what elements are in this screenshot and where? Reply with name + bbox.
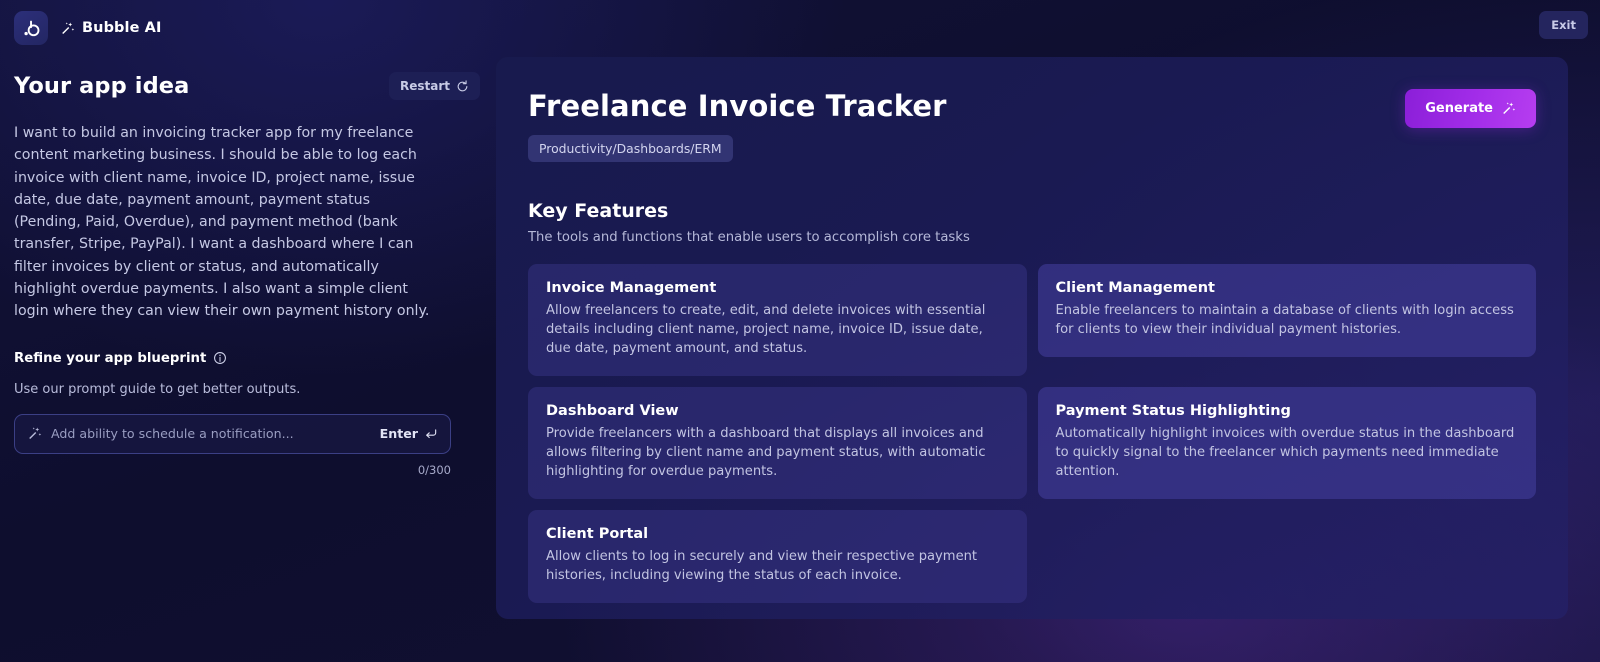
sparkle-icon bbox=[1501, 101, 1516, 116]
feature-grid: Invoice Management Allow freelancers to … bbox=[528, 264, 1536, 603]
enter-return-icon bbox=[424, 427, 438, 441]
feature-description: Automatically highlight invoices with ov… bbox=[1056, 425, 1519, 482]
top-bar: Bubble AI Exit bbox=[0, 0, 1600, 56]
feature-card[interactable]: Dashboard View Provide freelancers with … bbox=[528, 387, 1027, 499]
blueprint-panel: Freelance Invoice Tracker Productivity/D… bbox=[496, 57, 1568, 619]
category-badge: Productivity/Dashboards/ERM bbox=[528, 135, 733, 162]
sparkle-icon bbox=[60, 21, 75, 36]
feature-card[interactable]: Payment Status Highlighting Automaticall… bbox=[1038, 387, 1537, 499]
feature-description: Allow freelancers to create, edit, and d… bbox=[546, 302, 1009, 359]
brand-label: Bubble AI bbox=[82, 20, 162, 36]
feature-title: Client Portal bbox=[546, 526, 1009, 542]
sidebar-header: Your app idea Restart bbox=[14, 72, 480, 100]
bubble-logo-icon[interactable] bbox=[14, 11, 48, 45]
generate-button[interactable]: Generate bbox=[1405, 89, 1536, 128]
refine-title: Refine your app blueprint bbox=[14, 351, 206, 366]
prompt-input-container[interactable]: Enter bbox=[14, 414, 451, 454]
feature-card[interactable]: Client Portal Allow clients to log in se… bbox=[528, 510, 1027, 603]
panel-title-block: Freelance Invoice Tracker Productivity/D… bbox=[528, 89, 947, 162]
panel-header: Freelance Invoice Tracker Productivity/D… bbox=[528, 89, 1536, 162]
refine-header: Refine your app blueprint bbox=[14, 351, 480, 366]
restart-icon bbox=[456, 80, 469, 93]
feature-title: Payment Status Highlighting bbox=[1056, 403, 1519, 419]
exit-button[interactable]: Exit bbox=[1539, 11, 1588, 39]
restart-button[interactable]: Restart bbox=[389, 72, 480, 100]
feature-title: Client Management bbox=[1056, 280, 1519, 296]
character-counter: 0/300 bbox=[14, 463, 451, 477]
feature-card[interactable]: Client Management Enable freelancers to … bbox=[1038, 264, 1537, 357]
feature-description: Allow clients to log in securely and vie… bbox=[546, 548, 1009, 586]
features-heading: Key Features bbox=[528, 200, 1536, 222]
feature-description: Provide freelancers with a dashboard tha… bbox=[546, 425, 1009, 482]
feature-card[interactable]: Invoice Management Allow freelancers to … bbox=[528, 264, 1027, 376]
enter-submit-hint[interactable]: Enter bbox=[380, 426, 438, 441]
restart-button-label: Restart bbox=[400, 79, 450, 93]
features-subheading: The tools and functions that enable user… bbox=[528, 230, 1536, 245]
sparkle-icon bbox=[27, 426, 42, 441]
generate-button-label: Generate bbox=[1425, 101, 1493, 116]
enter-label: Enter bbox=[380, 426, 418, 441]
feature-title: Invoice Management bbox=[546, 280, 1009, 296]
feature-description: Enable freelancers to maintain a databas… bbox=[1056, 302, 1519, 340]
project-title: Freelance Invoice Tracker bbox=[528, 89, 947, 123]
brand: Bubble AI bbox=[60, 20, 162, 36]
prompt-input[interactable] bbox=[51, 426, 371, 441]
refine-subtitle: Use our prompt guide to get better outpu… bbox=[14, 382, 480, 397]
page-title: Your app idea bbox=[14, 73, 189, 99]
app-idea-sidebar: Your app idea Restart I want to build an… bbox=[14, 72, 480, 477]
feature-title: Dashboard View bbox=[546, 403, 1009, 419]
info-icon[interactable] bbox=[213, 351, 227, 365]
app-idea-description: I want to build an invoicing tracker app… bbox=[14, 122, 434, 323]
